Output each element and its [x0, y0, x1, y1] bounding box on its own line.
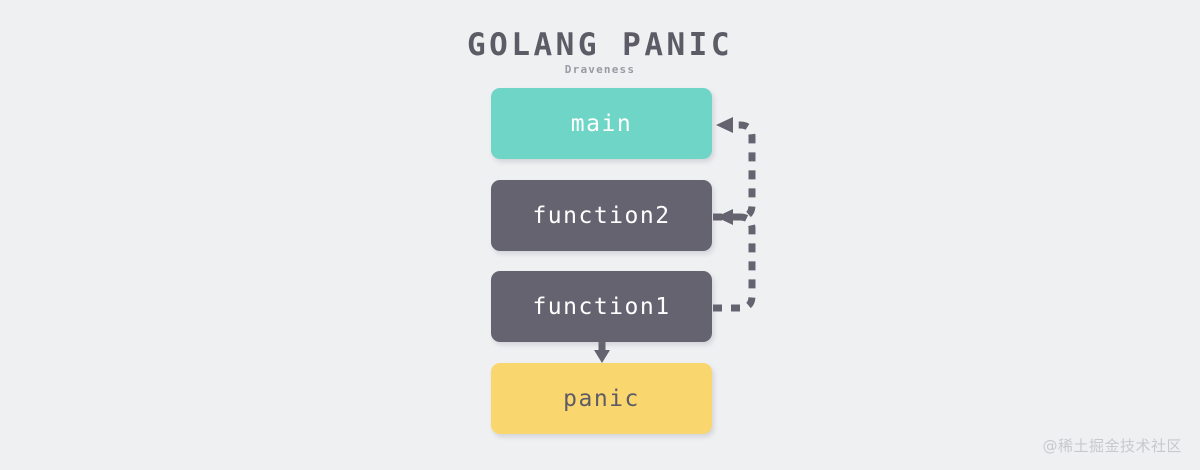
diagram-canvas: GOLANG PANIC Draveness main function2 fu…: [0, 0, 1200, 470]
arrowhead-to-panic: [594, 350, 610, 363]
page-title: GOLANG PANIC: [0, 26, 1200, 64]
edge-function2-to-main: [713, 117, 752, 217]
node-main[interactable]: main: [491, 88, 712, 159]
node-main-label: main: [571, 111, 632, 137]
arrowhead-to-main: [716, 117, 733, 133]
node-function1[interactable]: function1: [491, 271, 712, 342]
node-panic-label: panic: [563, 386, 640, 412]
node-function2-label: function2: [532, 203, 670, 229]
node-function2[interactable]: function2: [491, 180, 712, 251]
page-subtitle: Draveness: [0, 63, 1200, 77]
node-panic[interactable]: panic: [491, 363, 712, 434]
edge-function1-to-panic: [594, 342, 610, 363]
edge-function1-to-function2: [713, 209, 752, 308]
node-function1-label: function1: [532, 294, 670, 320]
watermark: @稀土掘金技术社区: [1042, 436, 1182, 456]
arrowhead-to-function2: [716, 209, 733, 225]
